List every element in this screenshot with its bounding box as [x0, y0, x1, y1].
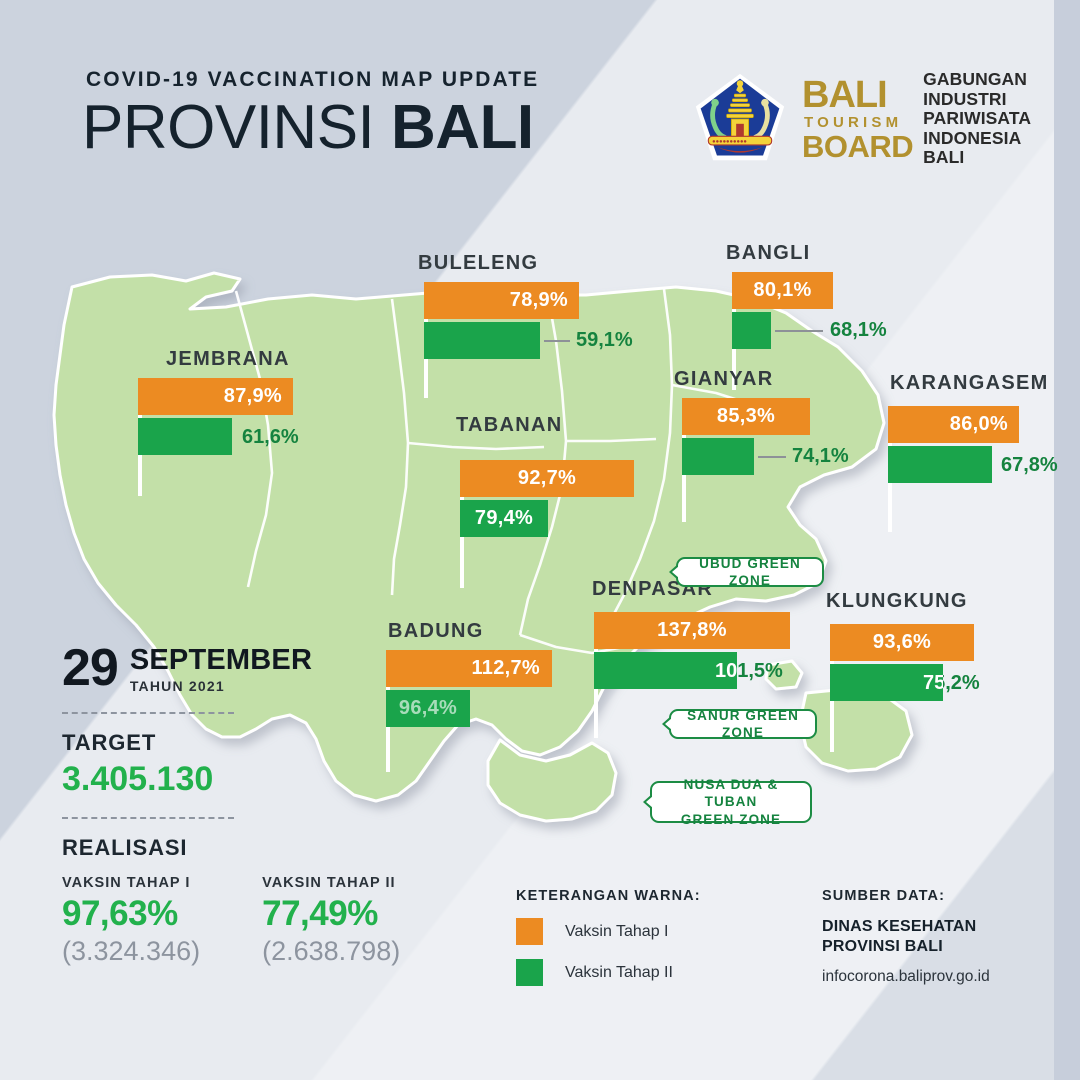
color-legend: KETERANGAN WARNA: Vaksin Tahap I Vaksin … [516, 888, 701, 986]
legend-item-dose1: Vaksin Tahap I [516, 918, 701, 945]
target-value: 3.405.130 [62, 760, 402, 799]
bar-value-klungkung-dose2-inner: 75,2% [923, 672, 943, 695]
realisasi-dose1-pct: 97,63% [62, 894, 200, 934]
bar-value-badung-dose1: 112,7% [471, 657, 540, 680]
bar-buleleng-dose1: 78,9% [424, 282, 579, 319]
pill-tail-sanur [662, 716, 671, 732]
bar-tabanan-dose1: 92,7% [460, 460, 634, 497]
bar-value-badung-dose2: 96,4% [399, 697, 457, 720]
pill-tail-ubud [669, 564, 678, 580]
date-block: 29 SEPTEMBER TAHUN 2021 [62, 645, 402, 694]
bar-value-bangli-dose2: 68,1% [830, 319, 887, 342]
target-label: TARGET [62, 730, 402, 756]
realisasi-dose2-pct: 77,49% [262, 894, 400, 934]
regency-label-klungkung: KLUNGKUNG [826, 590, 968, 613]
bar-value-denpasar-dose1: 137,8% [657, 619, 727, 642]
legend-swatch-dose2-icon [516, 959, 543, 986]
green-zone-label-sanur: SANUR GREEN ZONE [683, 707, 803, 742]
realisasi-label: REALISASI [62, 835, 402, 861]
green-zone-label-nusa-dua-tuban-line2: GREEN ZONE [681, 811, 781, 828]
source-org-line-2: PROVINSI BALI [822, 937, 990, 957]
realisasi-dose1-block: VAKSIN TAHAP I 97,63% (3.324.346) [62, 875, 200, 967]
infographic-canvas: COVID-19 VACCINATION MAP UPDATE PROVINSI… [0, 0, 1080, 1080]
bar-gianyar-dose2 [682, 438, 754, 475]
bar-value-karangasem-dose2: 67,8% [1001, 454, 1058, 477]
legend-swatch-dose1-icon [516, 918, 543, 945]
bar-jembrana-dose2 [138, 418, 232, 455]
bar-gianyar-dose1: 85,3% [682, 398, 810, 435]
source-heading: SUMBER DATA: [822, 888, 990, 904]
btb-org-block: GABUNGAN INDUSTRI PARIWISATA INDONESIA B… [923, 70, 1031, 168]
green-zone-label-nusa-dua-tuban-line1: NUSA DUA & TUBAN [664, 776, 798, 811]
realisasi-dose2-block: VAKSIN TAHAP II 77,49% (2.638.798) [262, 875, 400, 967]
btb-board-text: BOARD [802, 131, 913, 162]
regency-label-bangli: BANGLI [726, 242, 810, 265]
data-source: SUMBER DATA: DINAS KESEHATAN PROVINSI BA… [822, 888, 990, 986]
bar-value-buleleng-dose2: 59,1% [576, 329, 633, 352]
page-kicker: COVID-19 VACCINATION MAP UPDATE [86, 68, 539, 92]
bar-badung-dose1: 112,7% [386, 650, 552, 687]
leader-line-buleleng [544, 340, 570, 342]
page-title: PROVINSI BALI [82, 97, 534, 159]
leader-line-gianyar [758, 456, 786, 458]
bar-klungkung-dose1: 93,6% [830, 624, 974, 661]
green-zone-label-ubud: UBUD GREEN ZONE [690, 555, 810, 590]
btb-org-line-2: INDUSTRI [923, 90, 1031, 110]
svg-text:●●●●●●●●●●: ●●●●●●●●●● [712, 139, 747, 145]
bar-value-klungkung-dose1: 93,6% [873, 631, 931, 654]
regency-label-badung: BADUNG [388, 620, 484, 643]
bar-value-tabanan-dose1: 92,7% [518, 467, 576, 490]
btb-org-line-5: BALI [923, 148, 1031, 168]
regency-label-buleleng: BULELENG [418, 252, 538, 275]
bali-tourism-board-logo: ●●●●●●●●●● BALI TOURISM BOARD GABUNGAN I… [692, 70, 1031, 168]
green-zone-pill-nusa-dua-tuban[interactable]: NUSA DUA & TUBAN GREEN ZONE [650, 781, 812, 823]
regency-label-jembrana: JEMBRANA [166, 348, 290, 371]
bar-tabanan-dose2: 79,4% [460, 500, 548, 537]
pill-tail-nusa-dua-tuban [643, 794, 652, 810]
bar-bangli-dose2 [732, 312, 771, 349]
btb-org-line-1: GABUNGAN [923, 70, 1031, 90]
bar-value-jembrana-dose1: 87,9% [224, 385, 282, 408]
btb-tourism-text: TOURISM [804, 115, 913, 130]
btb-org-line-3: PARIWISATA [923, 109, 1031, 129]
realisasi-values: VAKSIN TAHAP I 97,63% (3.324.346) VAKSIN… [62, 875, 402, 967]
bar-value-gianyar-dose1: 85,3% [717, 405, 775, 428]
btb-wordmark: BALI TOURISM BOARD GABUNGAN INDUSTRI PAR… [802, 70, 1031, 168]
realisasi-dose2-label: VAKSIN TAHAP II [262, 875, 400, 891]
btb-org-line-4: INDONESIA [923, 129, 1031, 149]
green-zone-pill-ubud[interactable]: UBUD GREEN ZONE [676, 557, 824, 587]
bar-value-denpasar-dose2-inner: 101,5% [715, 660, 737, 683]
summary-panel: 29 SEPTEMBER TAHUN 2021 TARGET 3.405.130… [62, 645, 402, 967]
bar-value-bangli-dose1: 80,1% [753, 279, 811, 302]
bar-karangasem-dose1: 86,0% [888, 406, 1019, 443]
bar-bangli-dose1: 80,1% [732, 272, 833, 309]
bar-denpasar-dose1: 137,8% [594, 612, 790, 649]
date-day: 29 [62, 645, 118, 693]
divider-bottom [62, 817, 234, 819]
divider-top [62, 712, 234, 714]
bali-southern-peninsula-shape [488, 740, 616, 821]
source-website: infocorona.baliprov.go.id [822, 968, 990, 986]
legend-label-dose2: Vaksin Tahap II [565, 964, 673, 982]
regency-label-tabanan: TABANAN [456, 414, 563, 437]
bar-karangasem-dose2 [888, 446, 992, 483]
bar-jembrana-dose1: 87,9% [138, 378, 293, 415]
bar-value-karangasem-dose1: 86,0% [950, 413, 1008, 436]
regency-label-karangasem: KARANGASEM [890, 372, 1049, 395]
page-title-light: PROVINSI [82, 93, 391, 162]
bar-value-tabanan-dose2: 79,4% [475, 507, 533, 530]
bar-value-klungkung-dose2-inner-clip: 75,2% [830, 664, 943, 701]
realisasi-dose2-count: (2.638.798) [262, 936, 400, 967]
bar-value-denpasar-dose2-inner-clip: 101,5% [594, 652, 737, 689]
bar-value-gianyar-dose2: 74,1% [792, 445, 849, 468]
bar-buleleng-dose2 [424, 322, 540, 359]
realisasi-dose1-label: VAKSIN TAHAP I [62, 875, 200, 891]
source-org-line-1: DINAS KESEHATAN [822, 917, 990, 937]
legend-label-dose1: Vaksin Tahap I [565, 923, 668, 941]
date-year: TAHUN 2021 [130, 678, 312, 694]
realisasi-dose1-count: (3.324.346) [62, 936, 200, 967]
legend-heading: KETERANGAN WARNA: [516, 888, 701, 904]
source-organization: DINAS KESEHATAN PROVINSI BALI [822, 917, 990, 957]
btb-bali-text: BALI [802, 76, 913, 114]
green-zone-pill-sanur[interactable]: SANUR GREEN ZONE [669, 709, 817, 739]
leader-line-bangli [775, 330, 823, 332]
page-title-bold: BALI [391, 93, 534, 162]
bar-value-jembrana-dose2: 61,6% [242, 426, 299, 449]
date-month: SEPTEMBER [130, 645, 312, 675]
btb-name-block: BALI TOURISM BOARD [802, 76, 913, 162]
legend-item-dose2: Vaksin Tahap II [516, 959, 701, 986]
bali-provincial-emblem-icon: ●●●●●●●●●● [692, 71, 788, 167]
date-month-year: SEPTEMBER TAHUN 2021 [130, 645, 312, 694]
bar-value-buleleng-dose1: 78,9% [510, 289, 568, 312]
regency-label-gianyar: GIANYAR [674, 368, 774, 391]
